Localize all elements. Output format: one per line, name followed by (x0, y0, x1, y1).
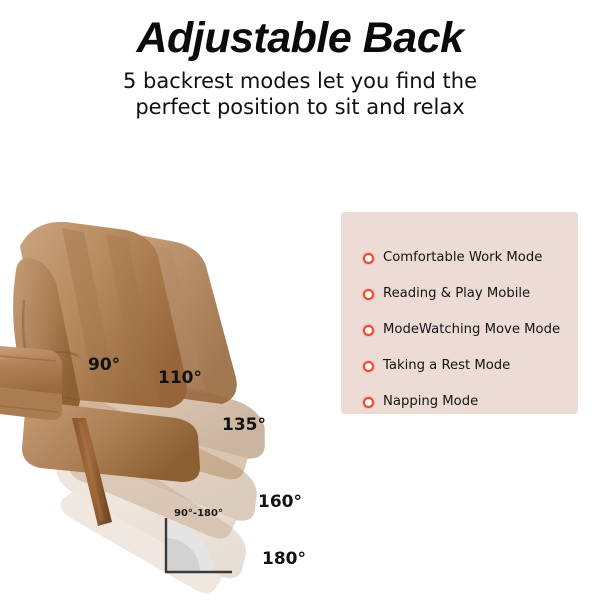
list-item: Comfortable Work Mode (363, 242, 578, 274)
angle-label-90: 90° (88, 355, 120, 375)
modes-panel: Comfortable Work Mode Reading & Play Mob… (341, 212, 578, 414)
angle-range-label: 90°-180° (174, 508, 223, 519)
angle-label-180: 180° (262, 549, 306, 569)
angle-range-badge: 90°-180° (160, 508, 240, 576)
ring-bullet-icon (363, 289, 374, 300)
page-subtitle: 5 backrest modes let you find the perfec… (0, 61, 600, 120)
subtitle-line-2: perfect position to sit and relax (0, 95, 600, 121)
angle-label-160: 160° (258, 492, 302, 512)
mode-label: Reading & Play Mobile (383, 287, 530, 300)
list-item: Reading & Play Mobile (363, 278, 578, 310)
ring-bullet-icon (363, 361, 374, 372)
mode-label: Napping Mode (383, 395, 478, 408)
list-item: Napping Mode (363, 386, 578, 418)
infographic-page: Adjustable Back 5 backrest modes let you… (0, 0, 600, 600)
ring-bullet-icon (363, 325, 374, 336)
list-item: ModeWatching Move Mode (363, 314, 578, 346)
ring-bullet-icon (363, 253, 374, 264)
modes-list: Comfortable Work Mode Reading & Play Mob… (363, 242, 578, 418)
mode-label: ModeWatching Move Mode (383, 323, 560, 336)
list-item: Taking a Rest Mode (363, 350, 578, 382)
armrest (0, 346, 62, 420)
angle-label-110: 110° (158, 368, 202, 388)
ring-bullet-icon (363, 397, 374, 408)
mode-label: Comfortable Work Mode (383, 251, 542, 264)
subtitle-line-1: 5 backrest modes let you find the (0, 69, 600, 95)
header: Adjustable Back 5 backrest modes let you… (0, 0, 600, 120)
page-title: Adjustable Back (0, 0, 600, 61)
mode-label: Taking a Rest Mode (383, 359, 510, 372)
angle-label-135: 135° (222, 415, 266, 435)
